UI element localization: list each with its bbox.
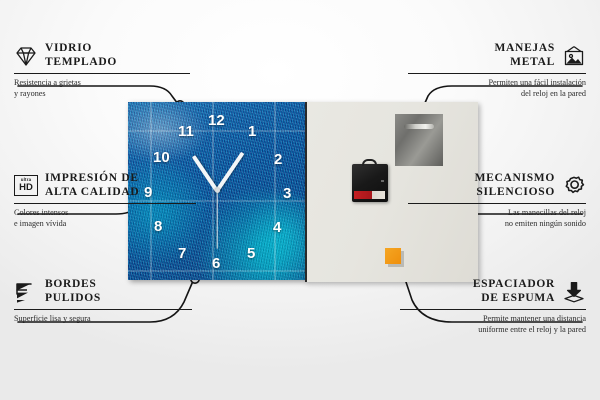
clock-numeral-9: 9 [144,185,152,200]
feature-description: Las manecillas del reloj no emiten ningú… [408,208,586,230]
feature-title-line1: VIDRIO [45,42,117,56]
feature-title-line2: DE ESPUMA [473,292,555,306]
feature-espaciador-de-espuma: ESPACIADOR DE ESPUMA Permite mantener un… [400,278,586,336]
feature-description: Superficie lisa y segura [14,314,192,325]
clock-numeral-6: 6 [212,256,220,271]
clock-numeral-12: 12 [208,113,225,128]
feature-title-line2: TEMPLADO [45,56,117,70]
feature-title-line2: ALTA CALIDAD [45,186,139,200]
clock-numeral-10: 10 [153,150,170,165]
mechanism-battery-label [354,191,385,199]
feature-title-line1: BORDES [45,278,101,292]
quartz-movement-box [352,164,388,202]
feature-divider [14,309,192,310]
clock-numeral-11: 11 [178,124,194,139]
gear-icon [562,175,586,197]
feature-title-line1: MECANISMO [475,172,555,186]
mechanism-detail-dot [381,180,384,182]
feature-title-line1: ESPACIADOR [473,278,555,292]
clock-numeral-7: 7 [178,246,186,261]
feature-vidrio-templado: VIDRIO TEMPLADO Resistencia a grietas y … [14,42,190,100]
feature-divider [14,73,190,74]
metal-hanger-plate [395,114,443,166]
diamond-icon [14,45,38,67]
feature-divider [408,203,586,204]
feature-description: Resistencia a grietas y rayones [14,78,190,100]
wall-hanger-frame-icon [562,45,586,67]
feature-title-line2: SILENCIOSO [475,186,555,200]
clock-hand-hub [215,188,220,193]
feature-title-line1: IMPRESIÓN DE [45,172,139,186]
feature-bordes-pulidos: BORDES PULIDOS Superficie lisa y segura [14,278,192,325]
feature-manejas-metal: MANEJAS METAL Permiten una fácil instala… [408,42,586,100]
feature-title-line2: PULIDOS [45,292,101,306]
clock-numeral-2: 2 [274,152,282,167]
ultra-hd-icon: ultra HD [14,175,38,196]
polished-edges-icon [14,281,38,303]
clock-numeral-8: 8 [154,219,162,234]
feature-title-line2: METAL [495,56,556,70]
clock-numeral-3: 3 [283,186,291,201]
clock-numeral-4: 4 [273,220,281,235]
feature-divider [408,73,586,74]
feature-title-line1: MANEJAS [495,42,556,56]
infographic-canvas: 12 1 2 3 4 5 6 7 8 9 10 11 [0,0,600,400]
feature-impresion-alta-calidad: ultra HD IMPRESIÓN DE ALTA CALIDAD Color… [14,172,196,230]
clock-numeral-1: 1 [248,124,256,139]
ultra-hd-icon-main: HD [19,183,33,193]
clock-numeral-5: 5 [247,246,255,261]
feature-divider [14,203,196,204]
foam-spacer [385,248,401,264]
hanger-slot [404,124,434,129]
mechanism-hanging-loop [362,159,377,166]
feature-divider [400,309,586,310]
foam-spacer-arrow-icon [562,281,586,303]
clock-minute-hand [215,152,244,192]
feature-description: Permiten una fácil instalación del reloj… [408,78,586,100]
clock-second-hand [216,191,217,249]
feature-mecanismo-silencioso: MECANISMO SILENCIOSO Las manecillas del … [408,172,586,230]
feature-description: Colores intensos e imagen vívida [14,208,196,230]
feature-description: Permite mantener una distancia uniforme … [400,314,586,336]
